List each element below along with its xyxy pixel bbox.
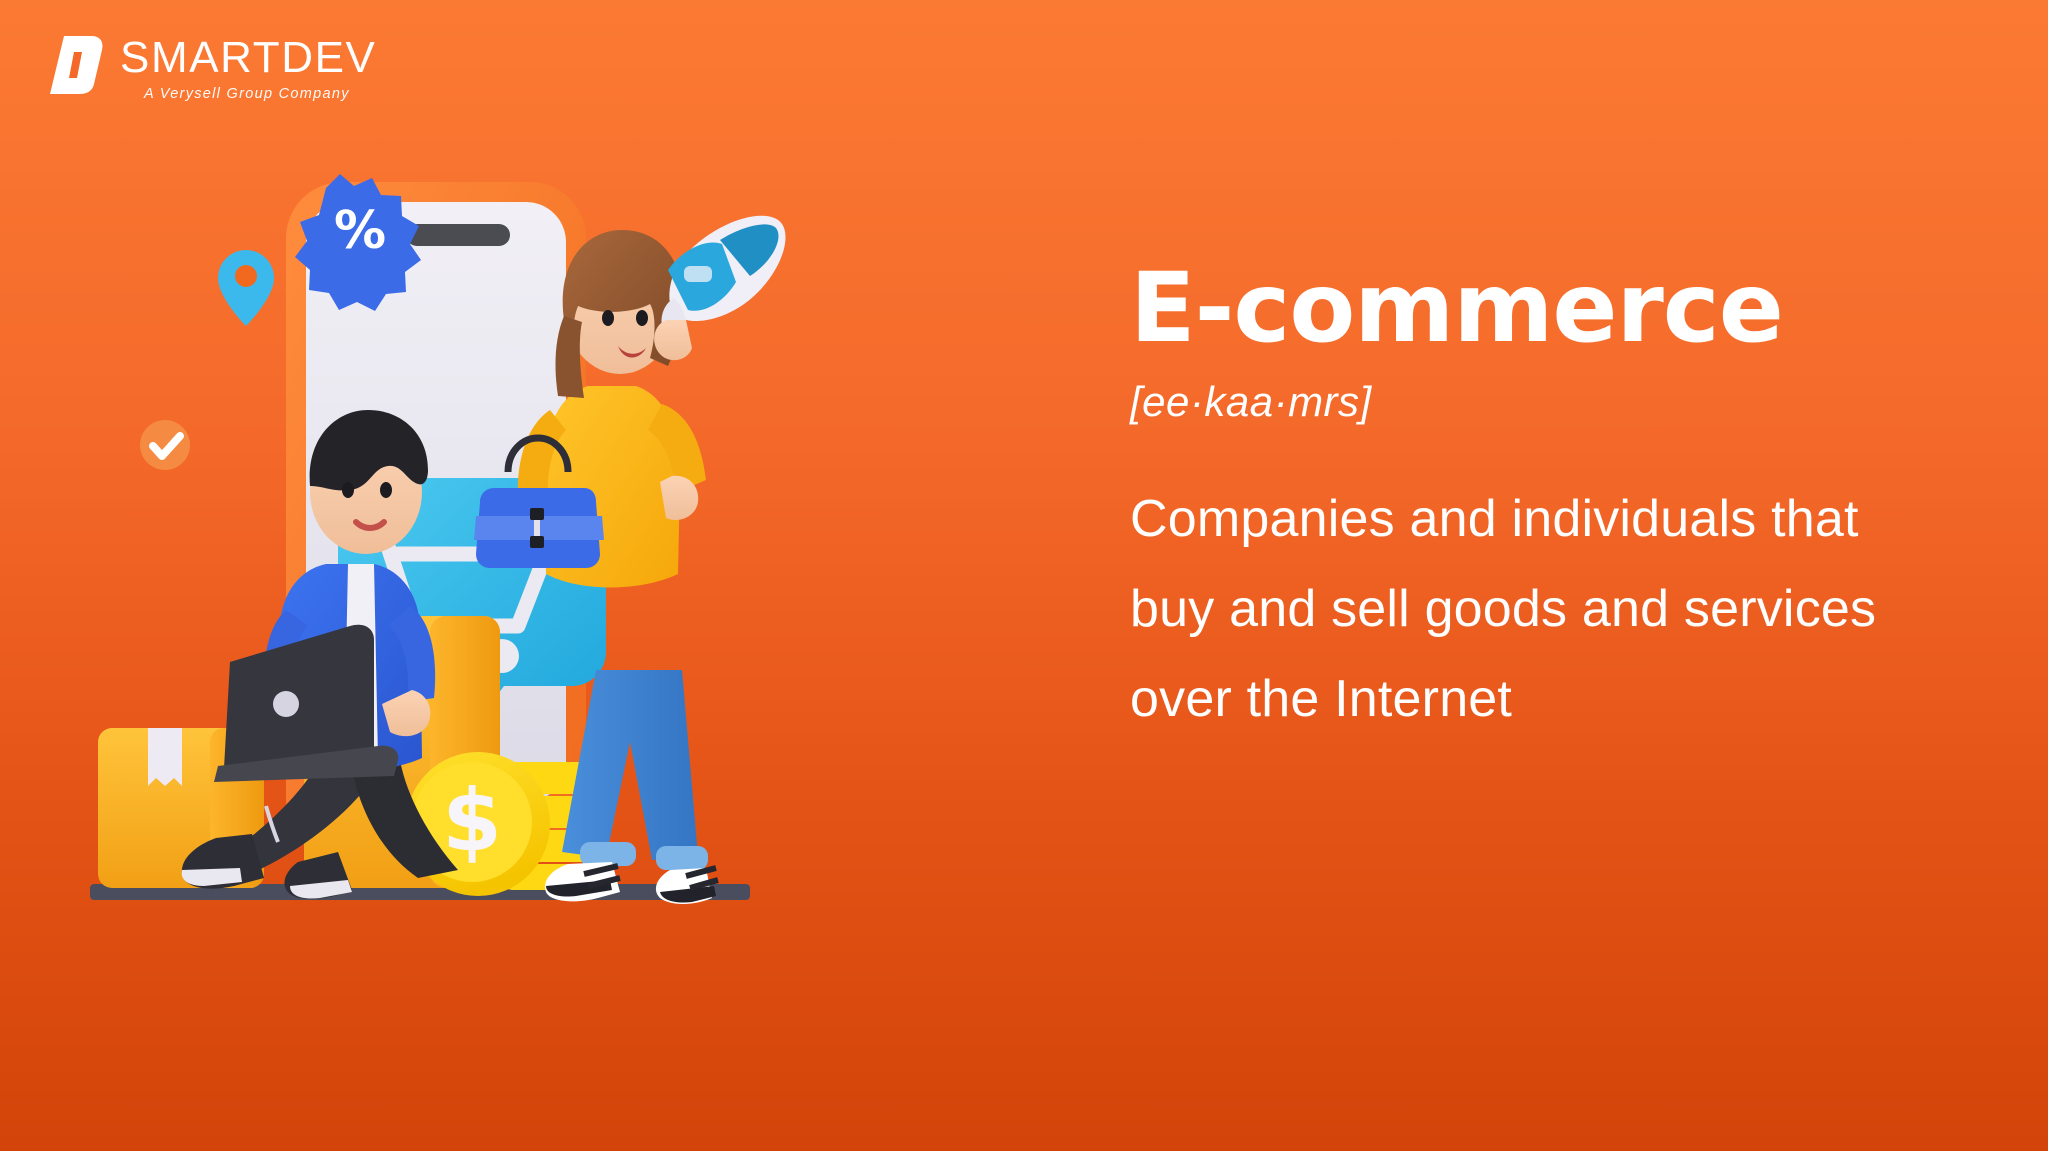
dollar-coin-label: $ <box>442 771 502 871</box>
ecommerce-illustration: % <box>90 170 990 950</box>
page-title: E-commerce <box>1130 258 1890 358</box>
text-content-block: E-commerce [ee·kaa·mrs] Companies and in… <box>1130 258 1890 744</box>
check-badge-icon <box>140 420 190 470</box>
smartdev-d-mark-icon <box>48 34 104 96</box>
logo-text-group: SMARTDEV A Verysell Group Company <box>120 34 376 104</box>
pronunciation-text: [ee·kaa·mrs] <box>1130 374 1890 430</box>
logo-wordmark: SMARTDEV <box>120 34 376 82</box>
logo-tagline: A Verysell Group Company <box>144 84 376 104</box>
location-pin-icon <box>218 250 274 326</box>
definition-text: Companies and individuals that buy and s… <box>1130 474 1890 744</box>
banner-canvas: SMARTDEV A Verysell Group Company <box>0 0 2048 1151</box>
brand-logo[interactable]: SMARTDEV A Verysell Group Company <box>48 34 376 104</box>
megaphone-icon <box>654 216 785 360</box>
discount-badge-label: % <box>334 201 386 261</box>
